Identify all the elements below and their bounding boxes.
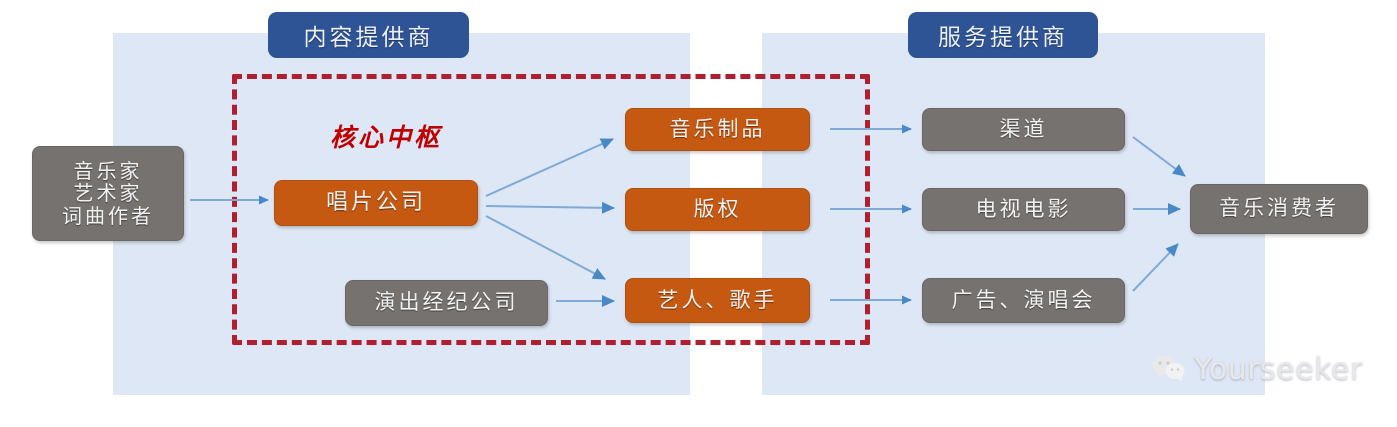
- diagram-canvas: 内容提供商 服务提供商 核心中枢 音乐家 艺术家 词曲作者 唱片公司 演出经纪公…: [0, 0, 1397, 427]
- node-music-products: 音乐制品: [625, 108, 810, 151]
- section-header-service-provider: 服务提供商: [908, 12, 1098, 58]
- arrow-channels-to-consumers: [1133, 137, 1185, 176]
- node-copyright-label: 版权: [694, 198, 742, 222]
- arrow-ads-concerts-to-consumers: [1133, 244, 1178, 291]
- core-hub-label: 核心中枢: [330, 118, 442, 154]
- arrow-label-company-to-artists: [486, 216, 605, 279]
- node-music-consumers-label: 音乐消费者: [1219, 197, 1339, 221]
- node-label-company: 唱片公司: [274, 180, 478, 226]
- node-tv-film-label: 电视电影: [976, 198, 1072, 222]
- node-performance-agency: 演出经纪公司: [345, 280, 548, 326]
- node-ads-concerts: 广告、演唱会: [922, 278, 1125, 323]
- node-music-products-label: 音乐制品: [670, 118, 766, 142]
- arrow-label-company-to-copyright: [486, 206, 614, 208]
- node-ads-concerts-label: 广告、演唱会: [952, 289, 1096, 313]
- node-artists-singers: 艺人、歌手: [625, 278, 810, 323]
- node-performance-agency-label: 演出经纪公司: [375, 291, 519, 315]
- node-creators-line-2: 艺术家: [74, 182, 143, 204]
- node-creators: 音乐家 艺术家 词曲作者: [32, 146, 184, 241]
- node-copyright: 版权: [625, 188, 810, 231]
- node-creators-line-1: 音乐家: [74, 160, 143, 182]
- node-music-consumers: 音乐消费者: [1190, 184, 1368, 234]
- node-channels-label: 渠道: [1000, 118, 1048, 142]
- arrow-label-company-to-music-products: [486, 139, 613, 196]
- wechat-icon: [1152, 354, 1186, 386]
- section-header-label: 内容提供商: [304, 18, 434, 52]
- node-channels: 渠道: [922, 108, 1125, 151]
- node-label-company-label: 唱片公司: [326, 191, 426, 216]
- node-tv-film: 电视电影: [922, 188, 1125, 231]
- watermark-text: Yourseeker: [1194, 352, 1363, 387]
- section-header-label: 服务提供商: [938, 18, 1068, 52]
- section-header-content-provider: 内容提供商: [268, 12, 469, 58]
- node-creators-line-3: 词曲作者: [62, 205, 154, 227]
- watermark: Yourseeker: [1152, 352, 1363, 387]
- node-artists-singers-label: 艺人、歌手: [658, 289, 778, 313]
